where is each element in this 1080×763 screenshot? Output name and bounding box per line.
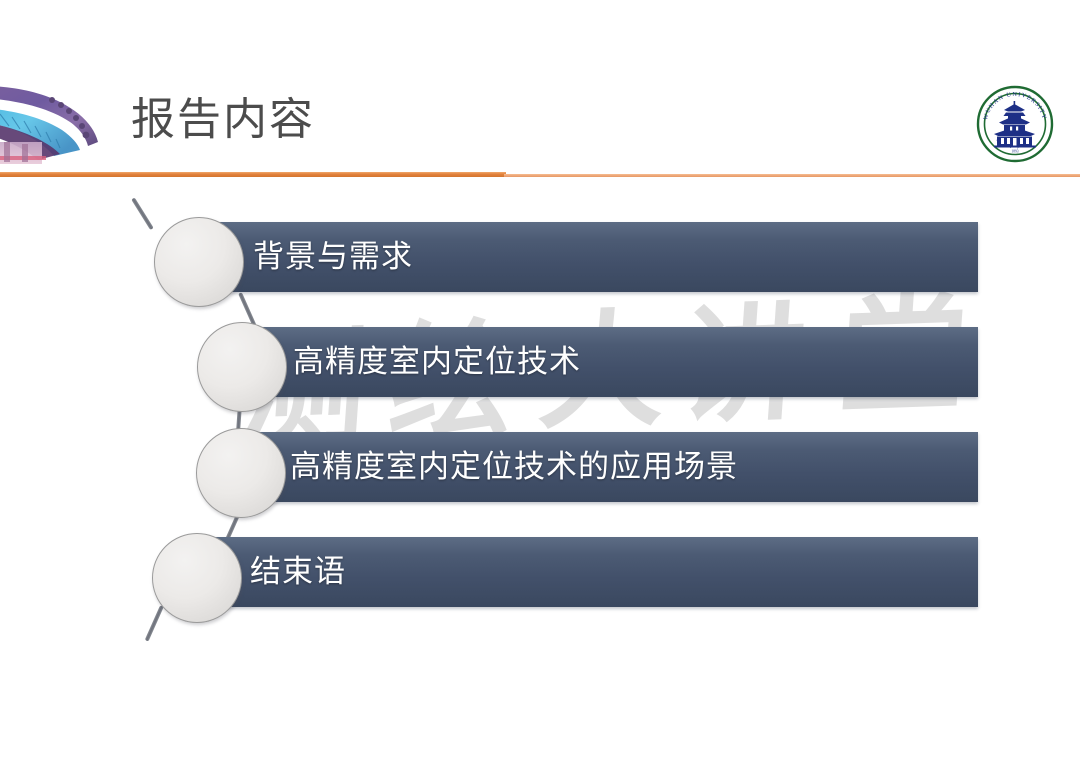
agenda-label-2: 高精度室内定位技术: [293, 344, 581, 380]
svg-text:1893: 1893: [1011, 150, 1018, 154]
agenda-label-3: 高精度室内定位技术的应用场景: [290, 449, 738, 485]
agenda-label-4: 结束语: [250, 554, 346, 590]
header-rule-thin: [504, 174, 1080, 177]
agenda-item-4[interactable]: 结束语: [0, 537, 1080, 607]
agenda-item-1[interactable]: 背景与需求: [0, 222, 1080, 292]
agenda-node-3[interactable]: [196, 428, 286, 518]
connector-line-end: [145, 605, 164, 641]
page-title: 报告内容: [131, 91, 315, 149]
agenda-node-1[interactable]: [154, 217, 244, 307]
slide-canvas: 报告内容 WUHAN UNIVERSITY 武 汉 大 学: [0, 0, 1080, 763]
header-rule-thick: [0, 172, 506, 177]
agenda-node-4[interactable]: [152, 533, 242, 623]
agenda-item-3[interactable]: 高精度室内定位技术的应用场景: [0, 432, 1080, 502]
wuhan-university-seal-logo: WUHAN UNIVERSITY 武 汉 大 学: [975, 84, 1055, 164]
agenda-item-2[interactable]: 高精度室内定位技术: [0, 327, 1080, 397]
agenda-node-2[interactable]: [197, 322, 287, 412]
agenda-label-1: 背景与需求: [253, 239, 413, 275]
chinese-pagoda-eave-image: [0, 56, 110, 164]
